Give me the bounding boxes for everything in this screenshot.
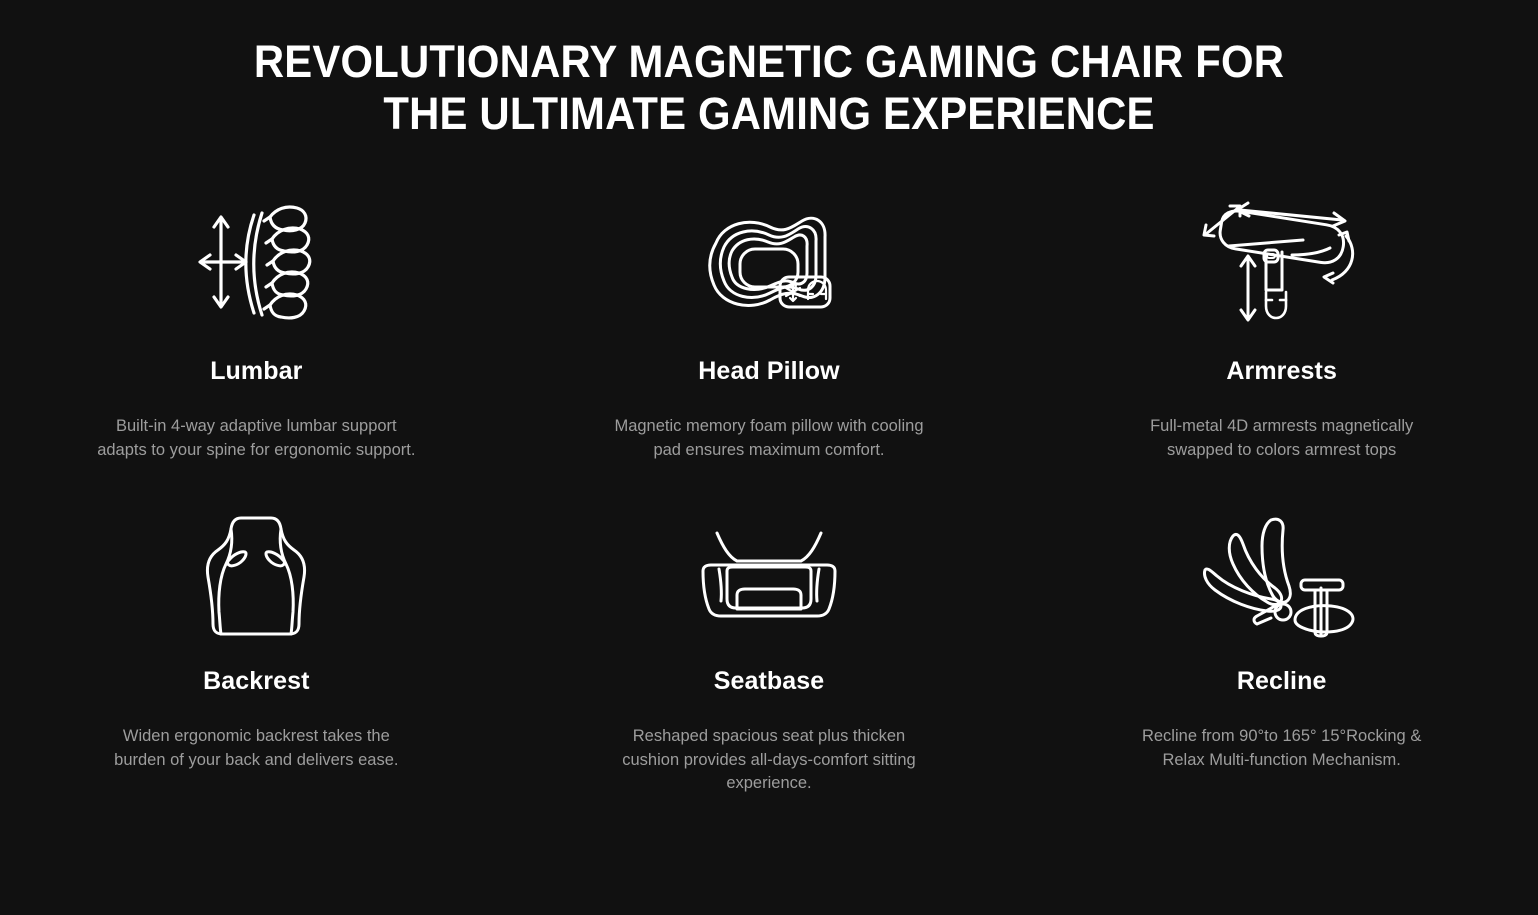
feature-card-armrests: Armrests Full-metal 4D armrests magnetic…: [1025, 186, 1538, 462]
head-pillow-icon: [694, 186, 844, 336]
page-title-line-1: REVOLUTIONARY MAGNETIC GAMING CHAIR FOR: [54, 36, 1484, 88]
recline-mechanism-icon: [1199, 504, 1365, 646]
armrest-4d-icon: [1196, 186, 1368, 336]
page-title: REVOLUTIONARY MAGNETIC GAMING CHAIR FOR …: [54, 0, 1484, 140]
spine-lumbar-icon: [190, 186, 322, 336]
feature-title: Backrest: [203, 666, 309, 696]
feature-title: Recline: [1237, 666, 1327, 696]
feature-section: REVOLUTIONARY MAGNETIC GAMING CHAIR FOR …: [0, 0, 1538, 915]
feature-title: Lumbar: [210, 356, 302, 386]
backrest-seat-icon: [201, 504, 311, 646]
feature-description: Full-metal 4D armrests magnetically swap…: [1122, 415, 1442, 462]
feature-card-lumbar: Lumbar Built-in 4-way adaptive lumbar su…: [0, 186, 513, 462]
feature-card-backrest: Backrest Widen ergonomic backrest takes …: [0, 504, 513, 796]
feature-description: Widen ergonomic backrest takes the burde…: [96, 725, 416, 772]
feature-description: Magnetic memory foam pillow with cooling…: [609, 415, 929, 462]
feature-title: Armrests: [1226, 356, 1337, 386]
seatbase-cushion-icon: [693, 504, 845, 646]
feature-description: Recline from 90°to 165° 15°Rocking & Rel…: [1122, 725, 1442, 772]
feature-card-recline: Recline Recline from 90°to 165° 15°Rocki…: [1025, 504, 1538, 796]
feature-grid: Lumbar Built-in 4-way adaptive lumbar su…: [0, 186, 1538, 796]
feature-description: Reshaped spacious seat plus thicken cush…: [609, 725, 929, 796]
feature-title: Seatbase: [714, 666, 825, 696]
page-title-line-2: THE ULTIMATE GAMING EXPERIENCE: [54, 88, 1484, 140]
feature-card-seatbase: Seatbase Reshaped spacious seat plus thi…: [513, 504, 1026, 796]
feature-description: Built-in 4-way adaptive lumbar support a…: [96, 415, 416, 462]
feature-card-head-pillow: Head Pillow Magnetic memory foam pillow …: [513, 186, 1026, 462]
feature-title: Head Pillow: [698, 356, 839, 386]
